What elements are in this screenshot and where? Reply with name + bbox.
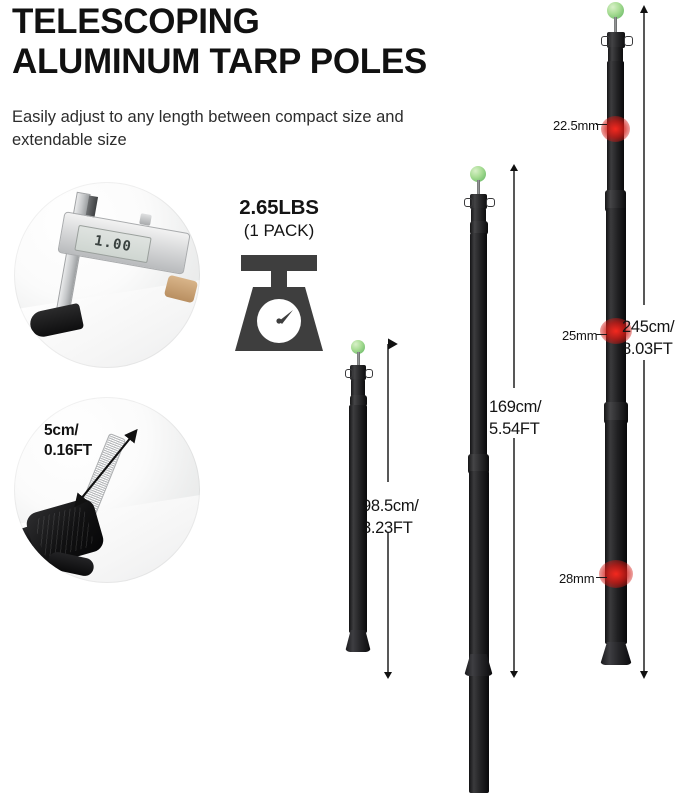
threaded-rod-photo: 5cm/ 0.16FT	[14, 397, 200, 583]
pack-count: (1 PACK)	[214, 221, 344, 241]
tip-stem-icon	[614, 17, 617, 33]
pole-foot-icon	[345, 630, 371, 652]
clamp-wing-left-icon	[464, 198, 473, 207]
diameter-leader-top	[596, 124, 607, 125]
clamp-wing-right-icon	[365, 369, 373, 378]
pole-segment-3	[606, 208, 626, 408]
title-line-1: TELESCOPING	[12, 2, 260, 41]
pole-segment-4	[605, 420, 627, 644]
title-line-2: ALUMINUM TARP POLES	[12, 42, 482, 82]
mid-length-cm: 169cm/	[489, 397, 541, 419]
diameter-leader-bottom	[596, 577, 607, 578]
mid-length-ft: 5.54FT	[489, 419, 541, 441]
collapsed-length-ft: 3.23FT	[362, 518, 419, 540]
pole-foot-icon	[600, 642, 632, 665]
page-title: TELESCOPING ALUMINUM TARP POLES	[12, 2, 482, 82]
clamp-wing-left-icon	[601, 36, 610, 46]
digital-caliper-photo: 1.00	[14, 182, 200, 368]
mid-pole-length-label: 169cm/ 5.54FT	[489, 397, 541, 441]
full-length-cm: 245cm/	[622, 317, 674, 339]
diameter-label-bottom: 28mm	[559, 571, 594, 586]
clamp-wing-left-icon	[345, 369, 353, 378]
tip-stem-icon	[357, 352, 360, 366]
diameter-label-middle: 25mm	[562, 328, 597, 343]
infographic-canvas: TELESCOPING ALUMINUM TARP POLES Easily a…	[0, 0, 679, 682]
full-pole-length-label: 245cm/ 8.03FT	[622, 317, 674, 361]
pole-segment-2	[470, 233, 487, 459]
diameter-leader-middle	[596, 334, 607, 335]
pole-segment-3	[469, 471, 489, 793]
tip-stem-icon	[477, 180, 480, 195]
photo-rim	[14, 182, 200, 368]
clamp-wing-right-icon	[486, 198, 495, 207]
collapsed-length-cm: 98.5cm/	[362, 496, 419, 518]
diameter-label-top: 22.5mm	[553, 118, 599, 133]
kitchen-scale-icon	[214, 251, 344, 362]
collapsed-pole-length-label: 98.5cm/ 3.23FT	[362, 496, 419, 540]
pole-segment-2	[607, 61, 624, 194]
photo-rim	[14, 397, 200, 583]
weight-value: 2.65LBS	[214, 196, 344, 220]
full-length-ft: 8.03FT	[622, 339, 674, 361]
subtitle: Easily adjust to any length between comp…	[12, 106, 442, 153]
weight-callout: 2.65LBS (1 PACK)	[214, 196, 344, 356]
